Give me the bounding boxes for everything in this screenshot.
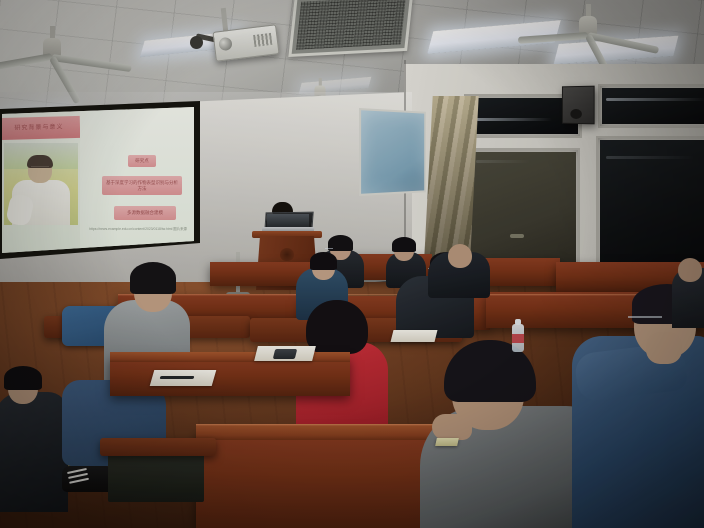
slide-box-1: 研究点 [128,155,156,167]
laptop-screen-glow [267,214,309,227]
desk-top-surface [110,352,350,362]
small-note-card [435,438,459,446]
eyeglasses-icon [628,316,662,318]
slide-photo-researcher [4,143,78,225]
sneaker-stripes [67,468,87,474]
slide-title-text: 研究背景与意义 [2,116,80,140]
slide-box-2: 基于深度学习的作物表型识别与分析方法 [102,176,182,195]
slide-citation-text: https://news.example.edu.cn/content/2023… [84,227,192,232]
podium-emblem [280,248,294,261]
wooden-bench-seat [108,452,204,502]
wall-mounted-speaker [562,86,595,125]
ceiling-air-conditioner-vent [288,0,413,57]
night-window-lower-left [466,148,580,268]
pen-icon [160,376,195,379]
student-hair [4,366,42,390]
night-window-upper-right [598,84,704,128]
student-hair [392,237,416,252]
student-head [448,244,472,268]
eyeglasses-icon [325,248,333,249]
open-notebook [391,330,438,342]
student-hair [310,252,337,270]
student-head [678,258,702,282]
speaker-cone-icon [570,109,581,119]
plastic-water-bottle [512,318,524,354]
bench-frame [100,438,216,456]
night-window-lower-right [596,136,704,272]
smartphone-on-notebook [273,349,297,359]
student-hair [130,262,176,294]
wooden-lecture-desk [110,356,350,396]
lecture-hall-photo: 研究背景与意义 研究点 基于深度学习的作物表型识别与分析方法 多源数据融合建模 … [0,0,704,528]
projector-mount-joint [190,36,203,49]
student-far-left-edge [0,392,68,512]
slide-title-banner: 研究背景与意义 [2,116,80,140]
projection-screen: 研究背景与意义 研究点 基于深度学习的作物表型识别与分析方法 多源数据融合建模 … [2,107,194,253]
student-hand [432,414,472,440]
projector-lens-icon [218,37,232,51]
wall-mounted-teal-panel [359,108,426,196]
slide-left-column: 研究背景与意义 [2,107,80,253]
projector-vent [253,33,272,47]
man-hand [646,332,682,364]
slide-box-3: 多源数据融合建模 [114,206,176,220]
